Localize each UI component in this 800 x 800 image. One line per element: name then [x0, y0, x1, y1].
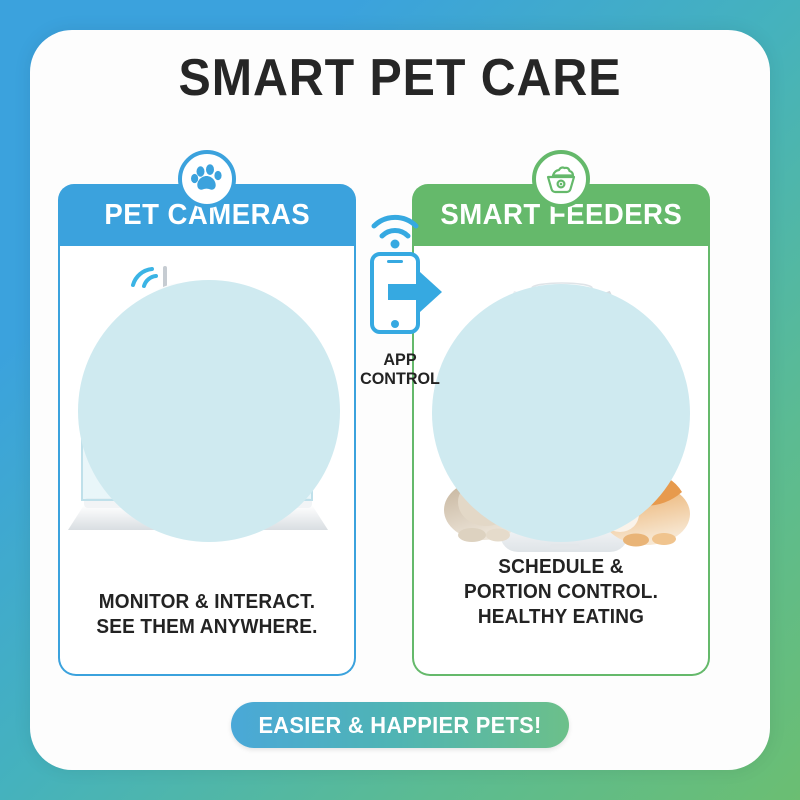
bottom-banner-text: EASIER & HAPPIER PETS! — [258, 712, 541, 739]
page-title: SMART PET CARE — [56, 48, 744, 108]
app-control-label: APP CONTROL — [358, 350, 442, 388]
smartphone-wifi-arrow-icon — [356, 208, 444, 348]
panel-pet-cameras[interactable]: PET CAMERAS — [58, 186, 356, 676]
caption-pet-cameras: MONITOR & INTERACT. SEE THEM ANYWHERE. — [67, 590, 346, 640]
caption-smart-feeders: SCHEDULE & PORTION CONTROL. HEALTHY EATI… — [421, 555, 700, 630]
app-control-block[interactable]: APP CONTROL — [356, 208, 444, 388]
bottom-banner[interactable]: EASIER & HAPPIER PETS! — [231, 702, 569, 748]
food-bowl-icon — [532, 150, 590, 208]
caption-line: HEALTHY EATING — [421, 605, 700, 630]
app-control-label-line: CONTROL — [358, 369, 442, 388]
photo-backdrop-circle — [78, 280, 340, 542]
white-card: SMART PET CARE PET CAMERAS — [30, 30, 770, 770]
photo-smart-feeder: 20 5 — [414, 248, 708, 578]
photo-pet-camera — [60, 248, 354, 578]
caption-line: SCHEDULE & — [421, 555, 700, 580]
app-control-label-line: APP — [358, 350, 442, 369]
paw-print-icon — [178, 150, 236, 208]
caption-line: SEE THEM ANYWHERE. — [67, 615, 346, 640]
caption-line: MONITOR & INTERACT. — [67, 590, 346, 615]
photo-backdrop-circle — [432, 284, 690, 542]
caption-line: PORTION CONTROL. — [421, 580, 700, 605]
infographic-poster: SMART PET CARE PET CAMERAS — [0, 0, 800, 800]
panel-smart-feeders[interactable]: SMART FEEDERS — [412, 186, 710, 676]
